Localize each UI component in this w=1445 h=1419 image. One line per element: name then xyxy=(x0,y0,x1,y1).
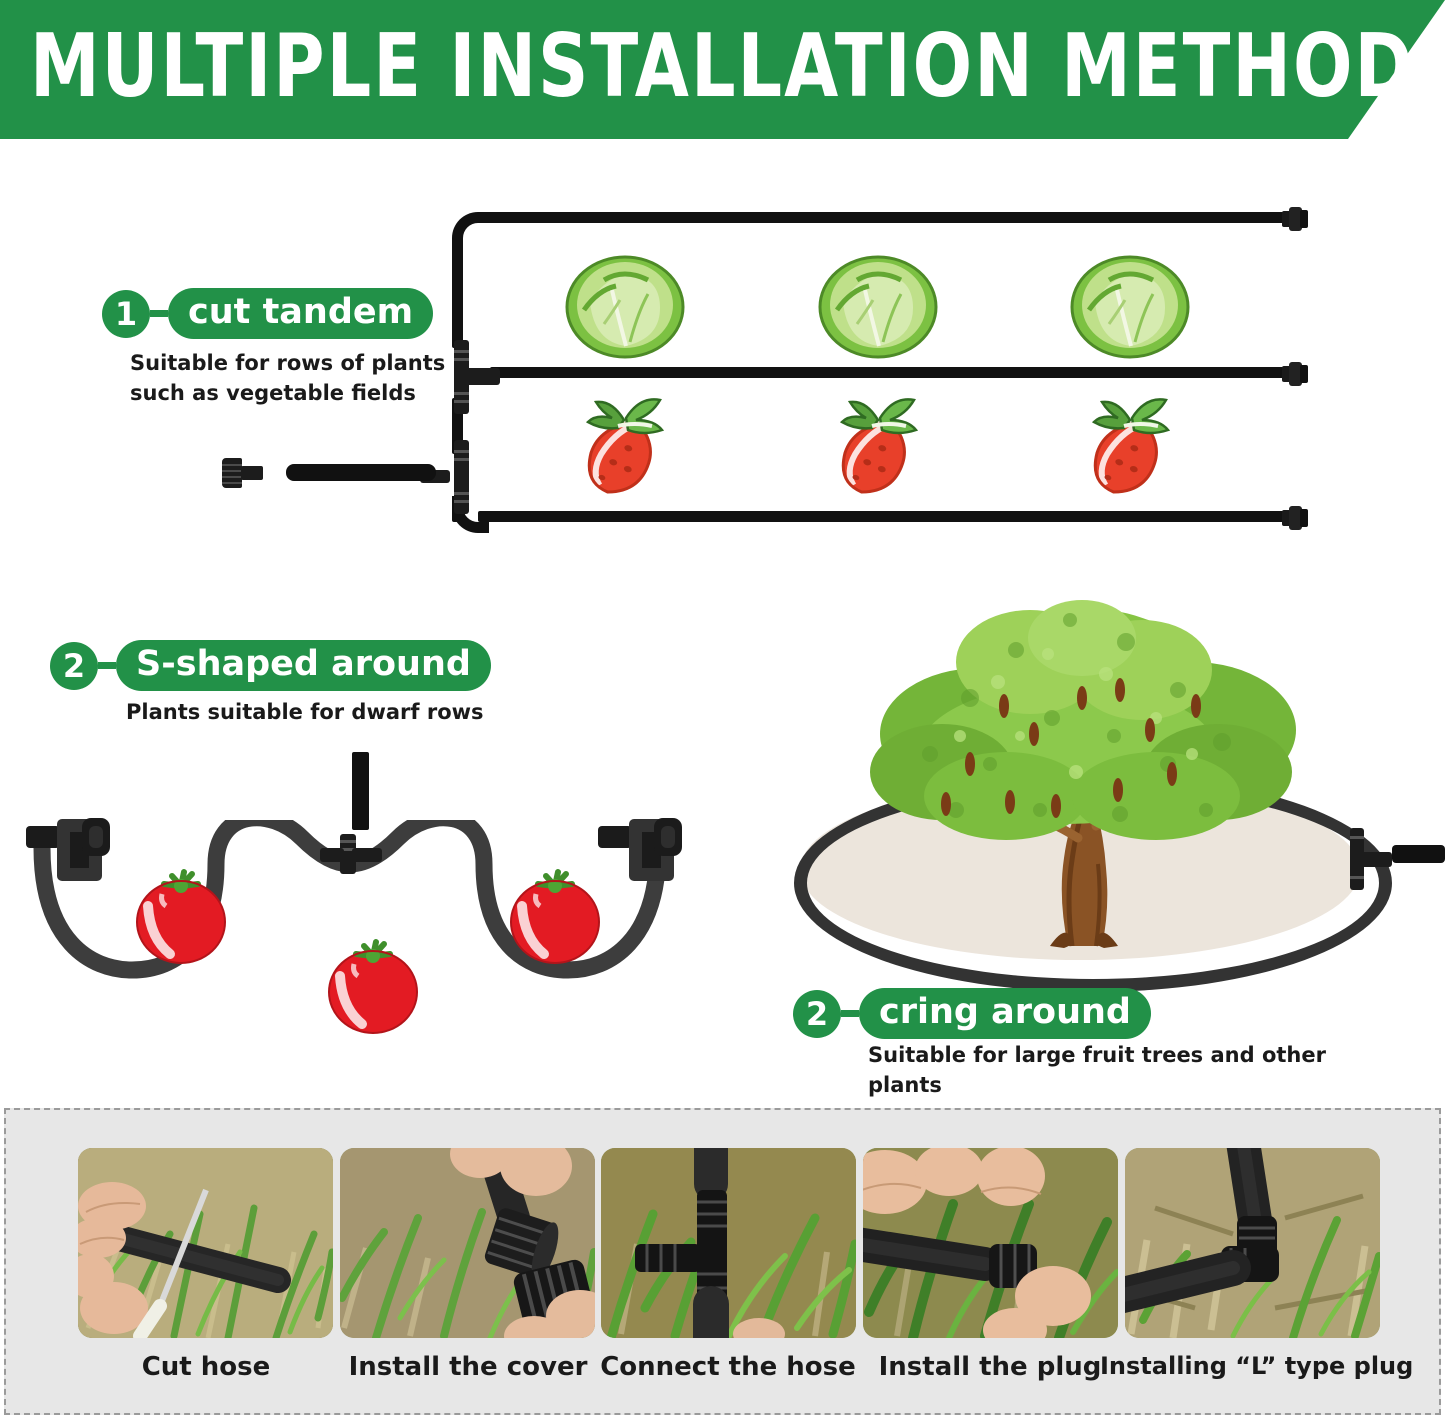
cabbage-icon-3 xyxy=(1065,250,1195,365)
step-photo-1[interactable] xyxy=(78,1148,333,1338)
method-3-badge: 2 cring around xyxy=(793,988,1151,1039)
method-1-title: cut tandem xyxy=(168,288,433,339)
method-2-number: 2 xyxy=(50,642,98,690)
hose-left-upper xyxy=(452,238,463,348)
carrot-icon-3 xyxy=(1062,388,1192,511)
hose-tree-feed xyxy=(1392,845,1445,863)
method-3-number: 2 xyxy=(793,990,841,1038)
step-photo-4[interactable] xyxy=(863,1148,1118,1338)
tomato-icon-1 xyxy=(126,860,236,975)
carrot-icon-2 xyxy=(810,388,940,511)
method-1-subtitle: Suitable for rows of plants such as vege… xyxy=(130,348,470,409)
step-caption-3: Connect the hose xyxy=(578,1352,878,1382)
step-caption-4: Install the plug xyxy=(840,1352,1140,1382)
method-1-badge: 1 cut tandem xyxy=(102,288,433,339)
badge-dash-icon-2 xyxy=(98,662,116,669)
hose-riser xyxy=(352,752,369,830)
step-photo-3[interactable] xyxy=(601,1148,856,1338)
method-2-title: S-shaped around xyxy=(116,640,491,691)
step-photo-2[interactable] xyxy=(340,1148,595,1338)
method-1-number: 1 xyxy=(102,290,150,338)
hose-supply-segment xyxy=(286,464,436,481)
step-caption-1: Cut hose xyxy=(56,1352,356,1382)
page-title: MULTIPLE INSTALLATION METHODS xyxy=(30,4,1310,129)
tomato-icon-2 xyxy=(318,930,428,1045)
method-3-title: cring around xyxy=(859,988,1151,1039)
badge-dash-icon xyxy=(150,310,168,317)
cabbage-icon-1 xyxy=(560,250,690,365)
hose-top-rail xyxy=(478,212,1284,223)
fruit-tree-icon xyxy=(820,558,1340,958)
step-caption-2: Install the cover xyxy=(318,1352,618,1382)
method-3-subtitle: Suitable for large fruit trees and other… xyxy=(868,1040,1388,1101)
header-banner: MULTIPLE INSTALLATION METHODS xyxy=(0,0,1445,139)
badge-dash-icon-3 xyxy=(841,1010,859,1017)
hose-middle-rail xyxy=(490,367,1284,378)
hose-bottom-rail xyxy=(478,511,1284,522)
carrot-icon-1 xyxy=(556,388,686,511)
step-photo-5[interactable] xyxy=(1125,1148,1380,1338)
cabbage-icon-2 xyxy=(813,250,943,365)
tomato-icon-3 xyxy=(500,860,610,975)
step-caption-5: Installing “L” type plug xyxy=(1100,1352,1400,1380)
method-2-subtitle: Plants suitable for dwarf rows xyxy=(126,697,546,727)
method-2-badge: 2 S-shaped around xyxy=(50,640,491,691)
